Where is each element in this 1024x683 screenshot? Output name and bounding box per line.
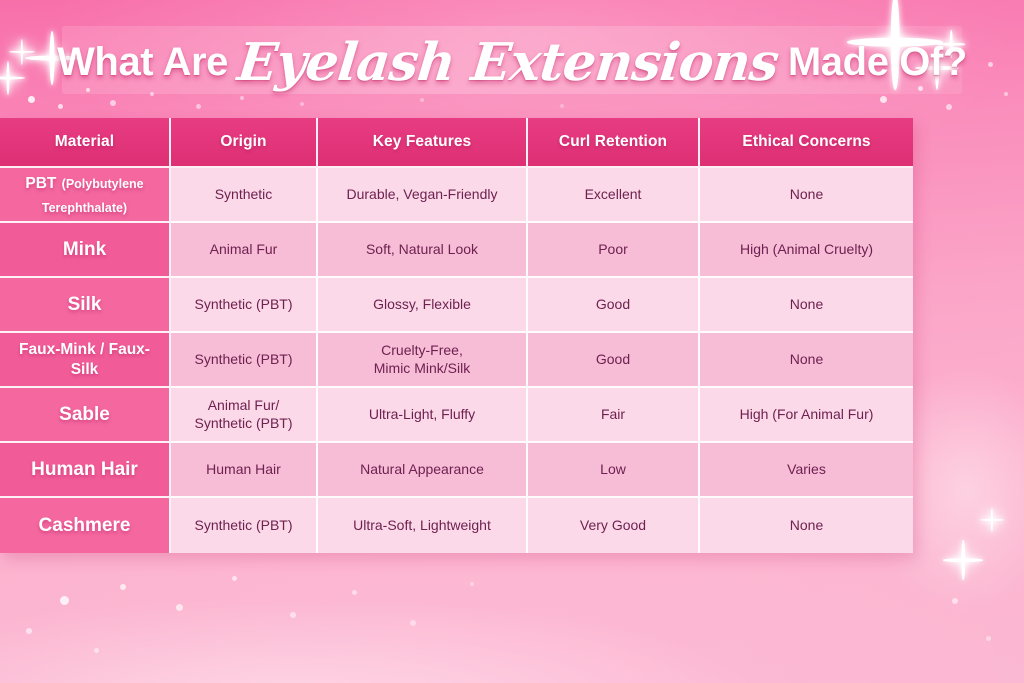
sparkle-dust: [560, 104, 564, 108]
sparkle-dust: [880, 96, 887, 103]
materials-table-wrapper: Material Origin Key Features Curl Retent…: [0, 118, 913, 553]
cell-curl: Fair: [528, 388, 700, 443]
table-header-row: Material Origin Key Features Curl Retent…: [0, 118, 913, 168]
column-header-key-features: Key Features: [318, 118, 528, 168]
cell-features: Natural Appearance: [318, 443, 528, 498]
cell-origin: Synthetic (PBT): [171, 498, 318, 553]
cell-ethical: High (Animal Cruelty): [700, 223, 913, 278]
sparkle-star-icon: [943, 540, 983, 580]
cell-features: Cruelty-Free, Mimic Mink/Silk: [318, 333, 528, 388]
origin-line-1: Animal Fur/: [171, 397, 316, 415]
cell-material: Silk: [0, 278, 171, 333]
table-row: Human Hair Human Hair Natural Appearance…: [0, 443, 913, 498]
cell-material: Mink: [0, 223, 171, 278]
sparkle-star-icon: [980, 508, 1004, 532]
title-part-2: Made Of?: [788, 40, 967, 85]
cell-features: Ultra-Soft, Lightweight: [318, 498, 528, 553]
sparkle-dust: [420, 98, 424, 102]
cell-material: PBT (Polybutylene Terephthalate): [0, 168, 171, 223]
material-subtitle: (Polybutylene Terephthalate): [42, 177, 144, 215]
sparkle-dust: [196, 104, 201, 109]
materials-table: Material Origin Key Features Curl Retent…: [0, 118, 913, 553]
sparkle-dust: [352, 590, 357, 595]
cell-ethical: None: [700, 498, 913, 553]
table-row: PBT (Polybutylene Terephthalate) Synthet…: [0, 168, 913, 223]
cell-origin: Synthetic: [171, 168, 318, 223]
title-script-part: Eyelash Extensions: [225, 32, 791, 93]
cell-curl: Excellent: [528, 168, 700, 223]
infographic-canvas: What Are Eyelash Extensions Made Of? Mat…: [0, 0, 1024, 683]
cell-ethical: High (For Animal Fur): [700, 388, 913, 443]
cell-origin: Human Hair: [171, 443, 318, 498]
sparkle-dust: [232, 576, 237, 581]
sparkle-dust: [94, 648, 99, 653]
cell-features: Ultra-Light, Fluffy: [318, 388, 528, 443]
sparkle-dust: [120, 584, 126, 590]
features-line-1: Cruelty-Free,: [318, 342, 526, 360]
features-line-2: Mimic Mink/Silk: [318, 360, 526, 378]
cell-curl: Good: [528, 278, 700, 333]
title-part-1: What Are: [57, 40, 228, 85]
sparkle-dust: [470, 582, 474, 586]
cell-features: Durable, Vegan-Friendly: [318, 168, 528, 223]
sparkle-dust: [26, 628, 32, 634]
sparkle-dust: [946, 104, 952, 110]
sparkle-dust: [986, 636, 991, 641]
page-title: What Are Eyelash Extensions Made Of?: [0, 27, 1024, 97]
cell-curl: Low: [528, 443, 700, 498]
sparkle-dust: [290, 612, 296, 618]
cell-features: Soft, Natural Look: [318, 223, 528, 278]
material-name: PBT: [25, 175, 56, 192]
table-row: Cashmere Synthetic (PBT) Ultra-Soft, Lig…: [0, 498, 913, 553]
column-header-ethical-concerns: Ethical Concerns: [700, 118, 913, 168]
origin-line-2: Synthetic (PBT): [171, 415, 316, 433]
cell-material: Sable: [0, 388, 171, 443]
sparkle-dust: [176, 604, 183, 611]
sparkle-dust: [300, 102, 304, 106]
cell-curl: Good: [528, 333, 700, 388]
table-row: Mink Animal Fur Soft, Natural Look Poor …: [0, 223, 913, 278]
cell-origin: Animal Fur: [171, 223, 318, 278]
sparkle-dust: [110, 100, 116, 106]
table-body: PBT (Polybutylene Terephthalate) Synthet…: [0, 168, 913, 553]
column-header-curl-retention: Curl Retention: [528, 118, 700, 168]
cell-ethical: Varies: [700, 443, 913, 498]
sparkle-dust: [410, 620, 416, 626]
cell-origin: Animal Fur/ Synthetic (PBT): [171, 388, 318, 443]
cell-material: Faux-Mink / Faux-Silk: [0, 333, 171, 388]
cell-features: Glossy, Flexible: [318, 278, 528, 333]
cell-material: Cashmere: [0, 498, 171, 553]
column-header-origin: Origin: [171, 118, 318, 168]
cell-ethical: None: [700, 333, 913, 388]
cell-origin: Synthetic (PBT): [171, 278, 318, 333]
sparkle-dust: [952, 598, 958, 604]
sparkle-dust: [60, 596, 69, 605]
cell-origin: Synthetic (PBT): [171, 333, 318, 388]
cell-ethical: None: [700, 168, 913, 223]
sparkle-dust: [28, 96, 35, 103]
table-row: Faux-Mink / Faux-Silk Synthetic (PBT) Cr…: [0, 333, 913, 388]
cell-curl: Poor: [528, 223, 700, 278]
cell-ethical: None: [700, 278, 913, 333]
cell-material: Human Hair: [0, 443, 171, 498]
table-row: Silk Synthetic (PBT) Glossy, Flexible Go…: [0, 278, 913, 333]
sparkle-dust: [58, 104, 63, 109]
column-header-material: Material: [0, 118, 171, 168]
cell-curl: Very Good: [528, 498, 700, 553]
table-row: Sable Animal Fur/ Synthetic (PBT) Ultra-…: [0, 388, 913, 443]
